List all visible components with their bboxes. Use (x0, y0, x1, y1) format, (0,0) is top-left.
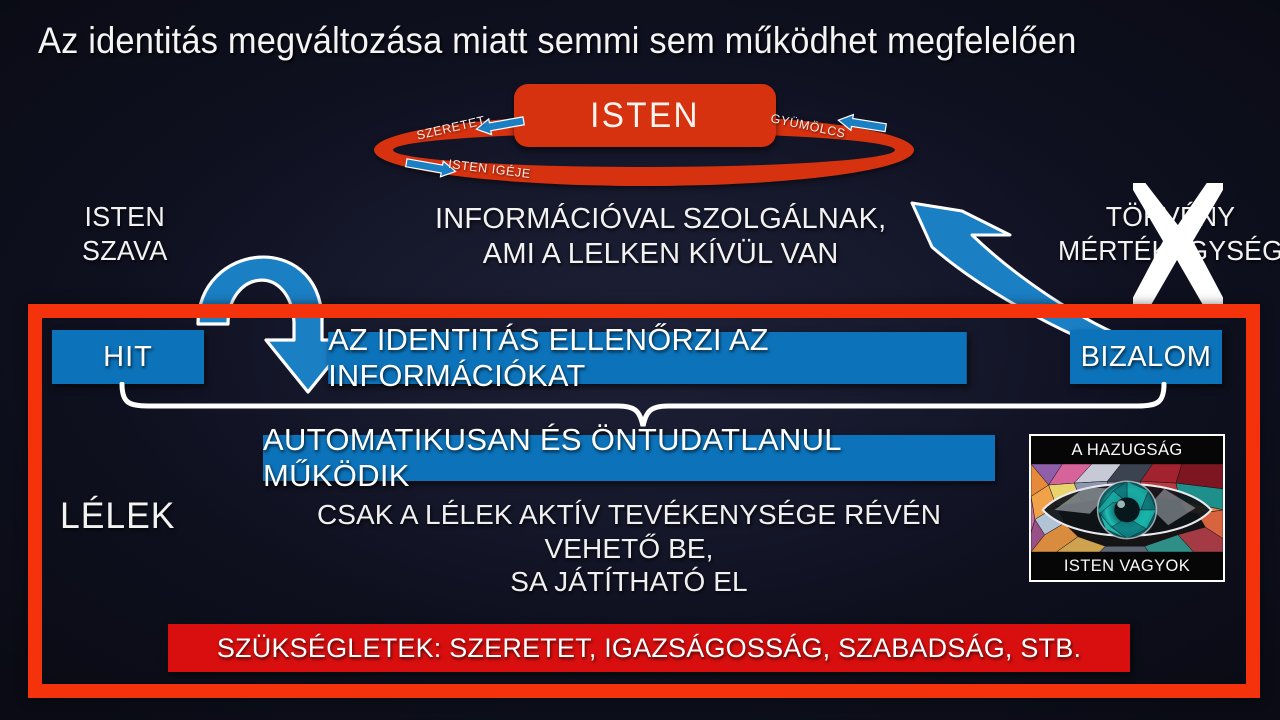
eye-card-bottom-caption: ISTEN VAGYOK (1034, 552, 1220, 580)
isten-box: ISTEN (514, 84, 776, 147)
eye-card-top-caption: A HAZUGSÁG (1034, 436, 1220, 464)
caption-information: INFORMÁCIÓVAL SZOLGÁLNAK, AMI A LELKEN K… (435, 202, 886, 273)
slide-canvas: Az identitás megváltozása miatt semmi se… (0, 0, 1280, 720)
box-identity-controls-information[interactable]: AZ IDENTITÁS ELLENŐRZI AZ INFORMÁCIÓKAT (328, 332, 967, 384)
isten-label: ISTEN (521, 84, 770, 147)
caption-isten-szava: ISTEN SZAVA (82, 200, 168, 268)
eye-card: A HAZUGSÁG (1029, 434, 1225, 582)
box-bizalom[interactable]: BIZALOM (1070, 330, 1222, 384)
page-title: Az identitás megváltozása miatt semmi se… (38, 20, 1077, 62)
needs-bar: SZÜKSÉGLETEK: SZERETET, IGAZSÁGOSSÁG, SZ… (168, 624, 1130, 672)
label-lelek: LÉLEK (60, 495, 175, 537)
box-automatic-unconscious[interactable]: AUTOMATIKUSAN ÉS ÖNTUDATLANUL MŰKÖDIK (263, 435, 995, 481)
box-hit[interactable]: HIT (52, 330, 204, 384)
god-cycle-diagram: ISTEN SZERETET GYÜMÖLCS ISTEN IGÉJE (370, 88, 920, 193)
polygonal-eye-image (1031, 464, 1223, 552)
body-text: CSAK A LÉLEK AKTÍV TEVÉKENYSÉGE RÉVÉN VE… (270, 498, 988, 599)
